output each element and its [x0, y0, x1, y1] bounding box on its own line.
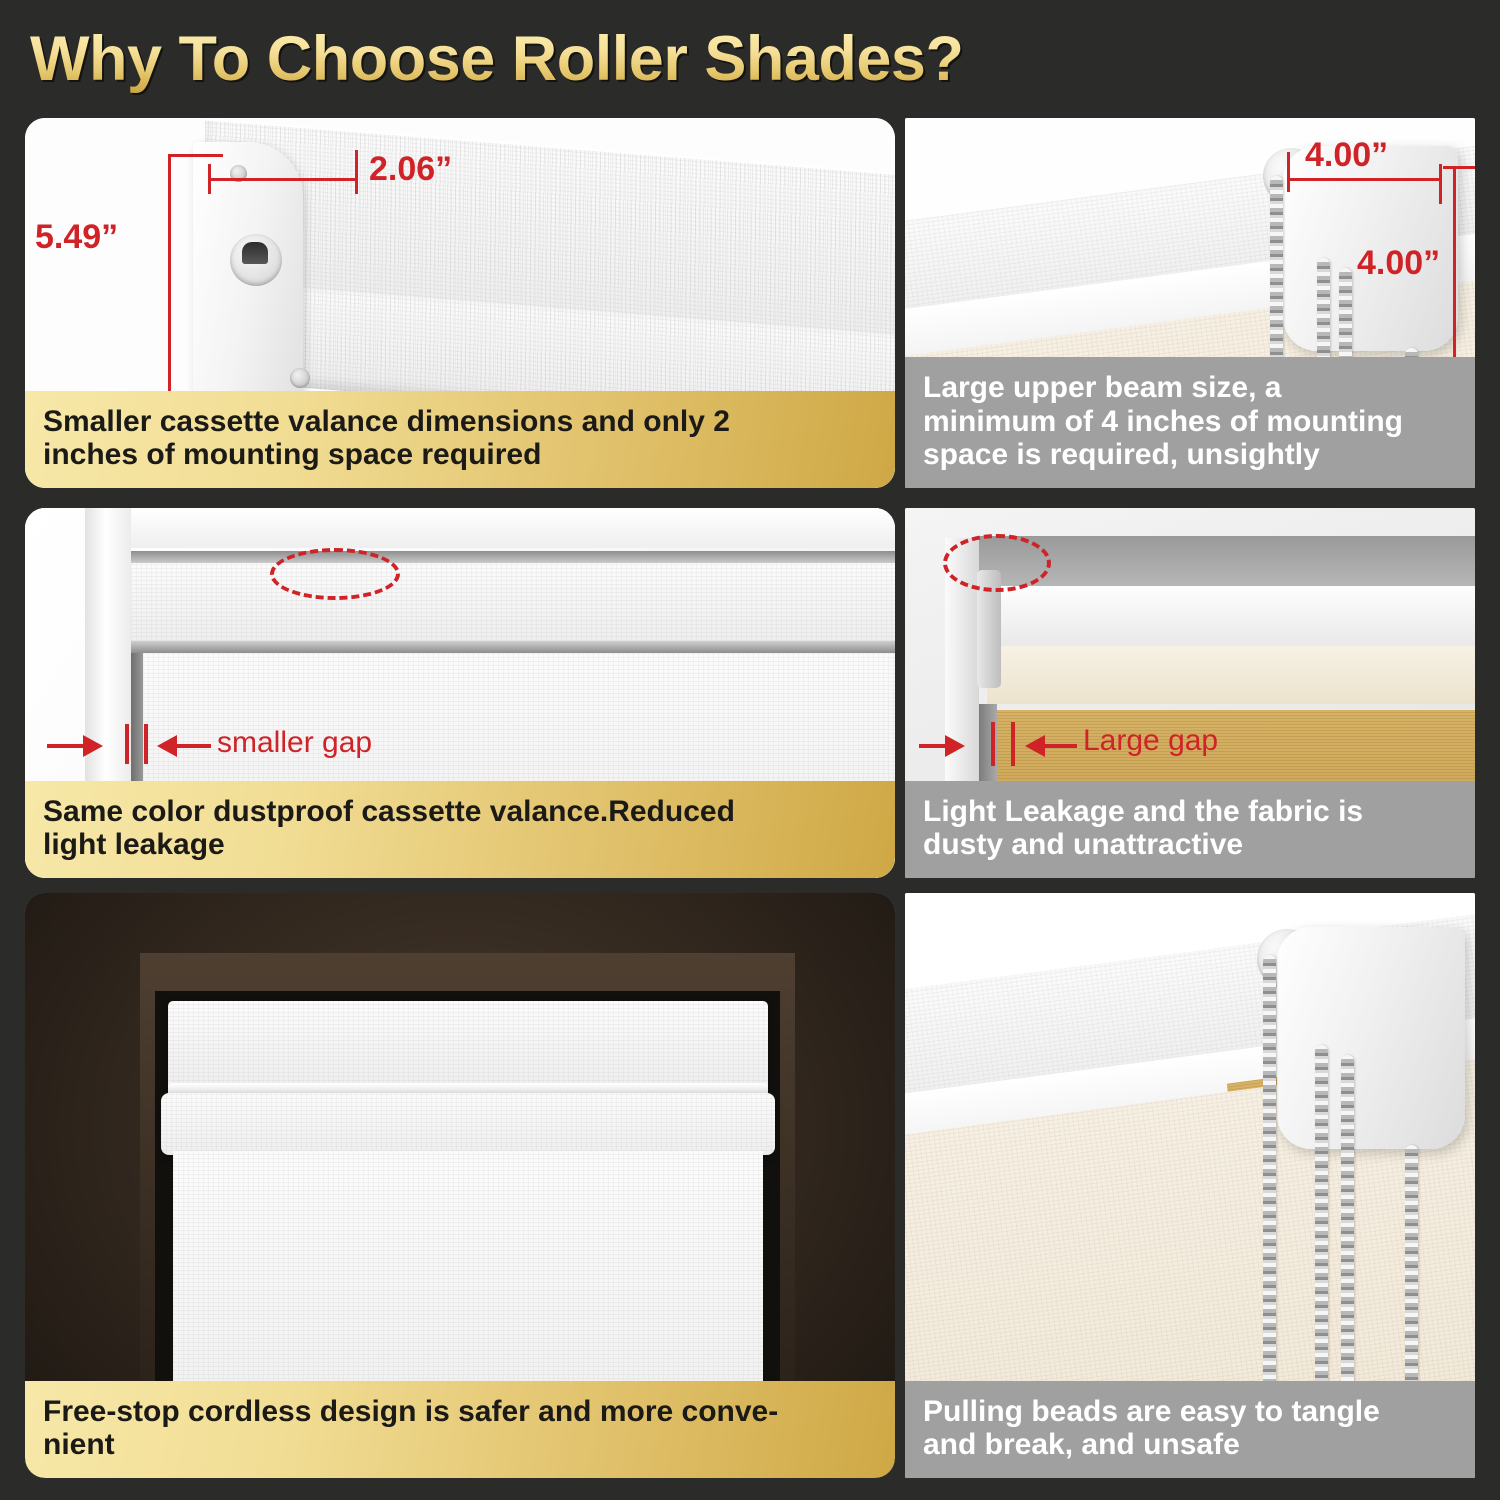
- caption-line: Same color dustproof cassette valance.Re…: [43, 795, 877, 829]
- panel-pro-dustproof-valance: smaller gap Same color dustproof cassett…: [25, 508, 895, 878]
- bead-chain: [1270, 176, 1283, 371]
- gap-tick: [144, 724, 148, 764]
- roller-tube: [161, 1093, 775, 1155]
- cassette-valance: [168, 1001, 768, 1089]
- dim-line-width: [208, 178, 358, 181]
- caption-line: Pulling beads are easy to tangle: [923, 1395, 1457, 1429]
- highlight-ellipse-icon: [943, 534, 1051, 592]
- gap-label-smaller: smaller gap: [217, 726, 372, 760]
- caption-line: dusty and unattractive: [923, 828, 1457, 862]
- gap-tick: [1011, 722, 1015, 766]
- caption-con-light-leakage: Light Leakage and the fabric is dusty an…: [905, 781, 1475, 878]
- caption-line: minimum of 4 inches of mounting: [923, 405, 1457, 439]
- panel-con-beam-size: 4.00” 4.00” Large upper beam size, a min…: [905, 118, 1475, 488]
- dim-label-width: 2.06”: [369, 150, 452, 189]
- cassette-top-edge: [131, 551, 895, 563]
- caption-line: space is required, unsightly: [923, 438, 1457, 472]
- dim-tick-right: [355, 150, 358, 194]
- valance-rail: [131, 641, 895, 653]
- caption-line: Large upper beam size, a: [923, 371, 1457, 405]
- panel-con-light-leakage: Large gap Light Leakage and the fabric i…: [905, 508, 1475, 878]
- dim-tick-top: [1443, 166, 1475, 169]
- dim-line-width: [1287, 178, 1442, 181]
- caption-con-pulling-beads: Pulling beads are easy to tangle and bre…: [905, 1381, 1475, 1478]
- gap-arrow-stem-left: [47, 744, 87, 748]
- panel-pro-cassette-size: 2.06” 5.49” Smaller cassette valance dim…: [25, 118, 895, 488]
- gap-arrow-stem-right: [1045, 744, 1077, 748]
- gap-arrow-stem-right: [177, 744, 211, 748]
- window-head-jamb: [85, 508, 895, 548]
- gap-label-large: Large gap: [1083, 724, 1218, 758]
- roller-shadow-band: [979, 536, 1475, 586]
- caption-pro-dustproof-valance: Same color dustproof cassette valance.Re…: [25, 781, 895, 878]
- dim-label-height: 4.00”: [1357, 244, 1440, 283]
- page-title-text: Why To Choose Roller Shades?: [30, 23, 963, 95]
- dim-label-width: 4.00”: [1305, 136, 1388, 175]
- dim-tick-left: [208, 164, 211, 194]
- mounting-bracket: [1277, 927, 1465, 1149]
- caption-pro-cassette-size: Smaller cassette valance dimensions and …: [25, 391, 895, 488]
- dim-label-height: 5.49”: [35, 218, 118, 257]
- dim-tick-top: [168, 154, 223, 157]
- caption-line: Light Leakage and the fabric is: [923, 795, 1457, 829]
- roller-tube: [979, 586, 1475, 646]
- gap-tick: [991, 722, 995, 766]
- caption-pro-cordless-design: Free-stop cordless design is safer and m…: [25, 1381, 895, 1478]
- panel-con-pulling-beads: Pulling beads are easy to tangle and bre…: [905, 893, 1475, 1478]
- caption-line: and break, and unsafe: [923, 1428, 1457, 1462]
- dim-tick-left: [1287, 152, 1290, 192]
- caption-line: light leakage: [43, 828, 877, 862]
- panel-pro-cordless-design: Free-stop cordless design is safer and m…: [25, 893, 895, 1478]
- gap-arrow-left-icon: [1025, 735, 1045, 757]
- caption-con-beam-size: Large upper beam size, a minimum of 4 in…: [905, 357, 1475, 488]
- valance-cream-band: [987, 646, 1475, 704]
- gap-arrow-left-icon: [157, 735, 177, 757]
- page-title: Why To Choose Roller Shades?: [30, 18, 1050, 100]
- gap-tick: [125, 724, 129, 764]
- caption-line: Free-stop cordless design is safer and m…: [43, 1395, 877, 1429]
- cassette-valance-face: [131, 563, 895, 641]
- caption-line: Smaller cassette valance dimensions and …: [43, 405, 877, 439]
- caption-line: inches of mounting space required: [43, 438, 877, 472]
- dim-tick-right: [1439, 164, 1442, 204]
- gap-arrow-right-icon: [945, 735, 965, 757]
- highlight-ellipse-icon: [270, 548, 400, 600]
- roller-mechanism-icon: [230, 234, 282, 286]
- dim-line-height: [1453, 166, 1456, 371]
- screw-icon: [290, 368, 310, 388]
- bead-chain: [1317, 258, 1330, 373]
- gap-arrow-right-icon: [83, 735, 103, 757]
- caption-line: nient: [43, 1428, 877, 1462]
